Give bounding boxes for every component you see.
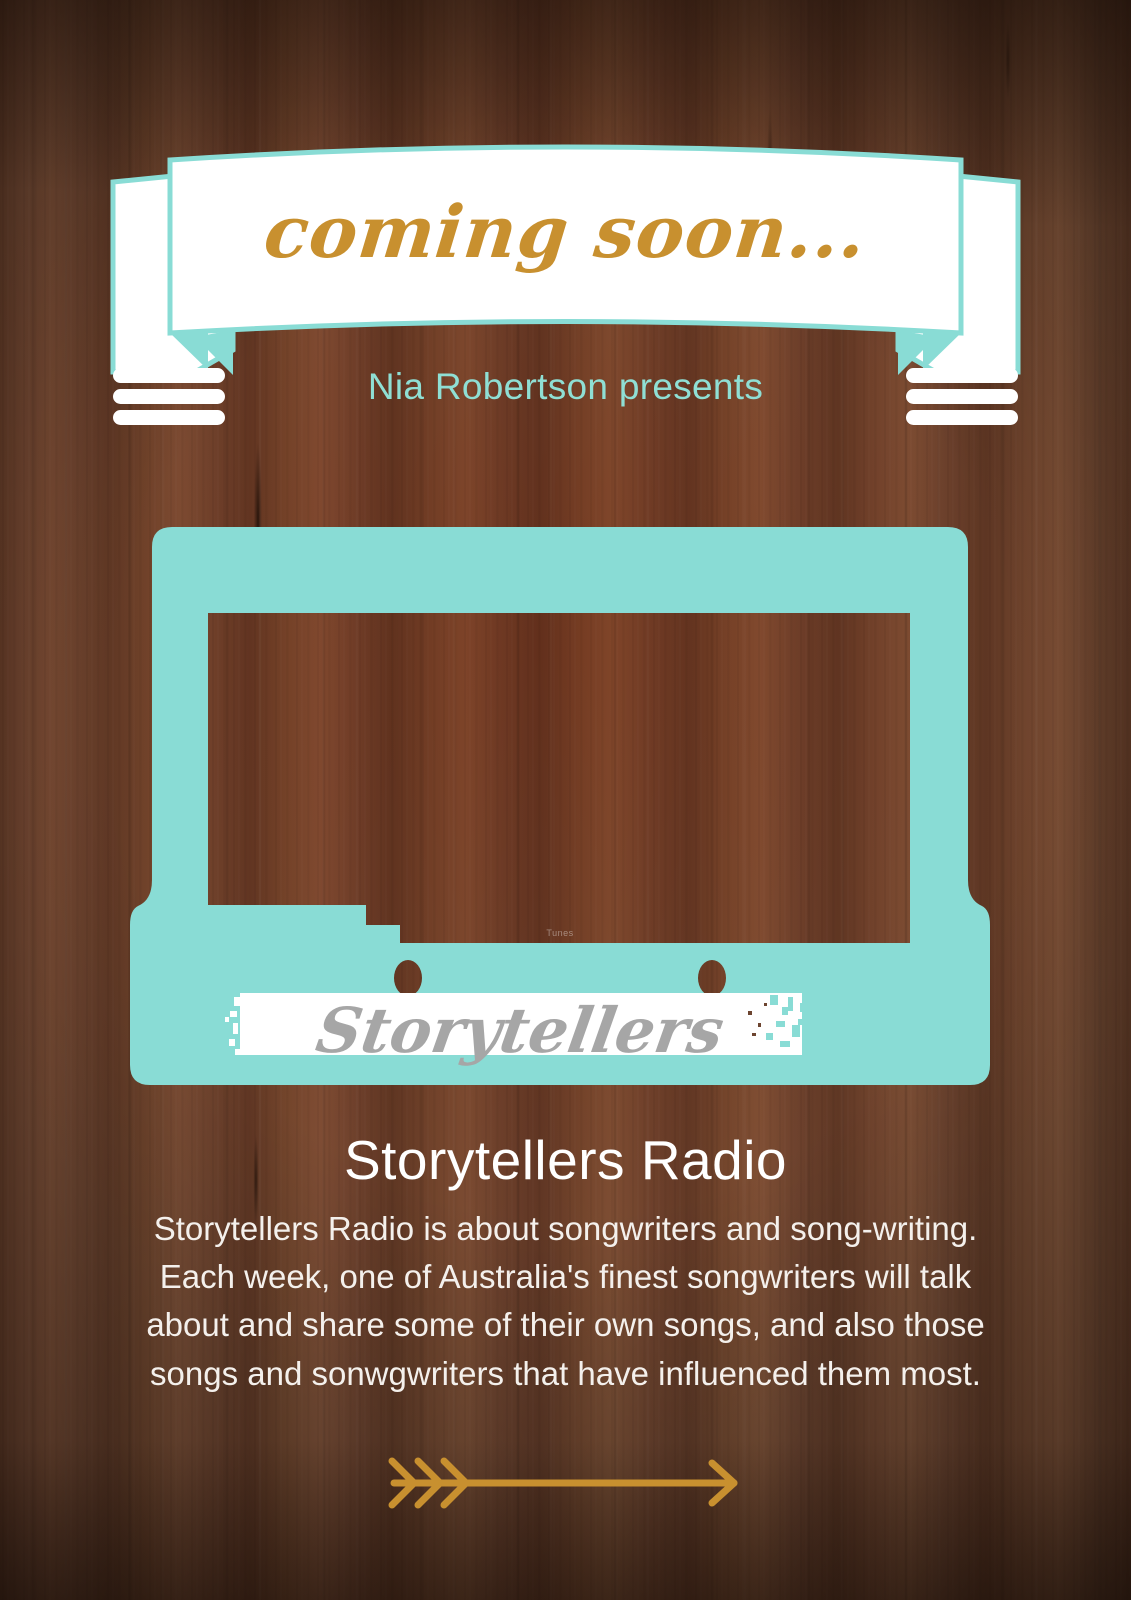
ribbon-left-bar-3: [113, 410, 225, 425]
cassette-micro-text: Tunes: [130, 928, 990, 938]
feathered-arrow-icon: [386, 1455, 746, 1511]
presenter-line: Nia Robertson presents: [0, 366, 1131, 408]
show-title: Storytellers Radio: [0, 1128, 1131, 1192]
cassette-label-text: Storytellers: [235, 1000, 805, 1062]
ribbon-right-bar-3: [906, 410, 1018, 425]
arrow-divider: [0, 1455, 1131, 1516]
show-description: Storytellers Radio is about songwriters …: [140, 1205, 991, 1398]
poster-canvas: coming soon... Nia Robertson presents: [0, 0, 1131, 1600]
coming-soon-headline: coming soon...: [0, 196, 1131, 268]
cassette-tape-window: [250, 705, 870, 845]
cassette-graphic: Tunes Storytellers: [130, 525, 990, 1100]
